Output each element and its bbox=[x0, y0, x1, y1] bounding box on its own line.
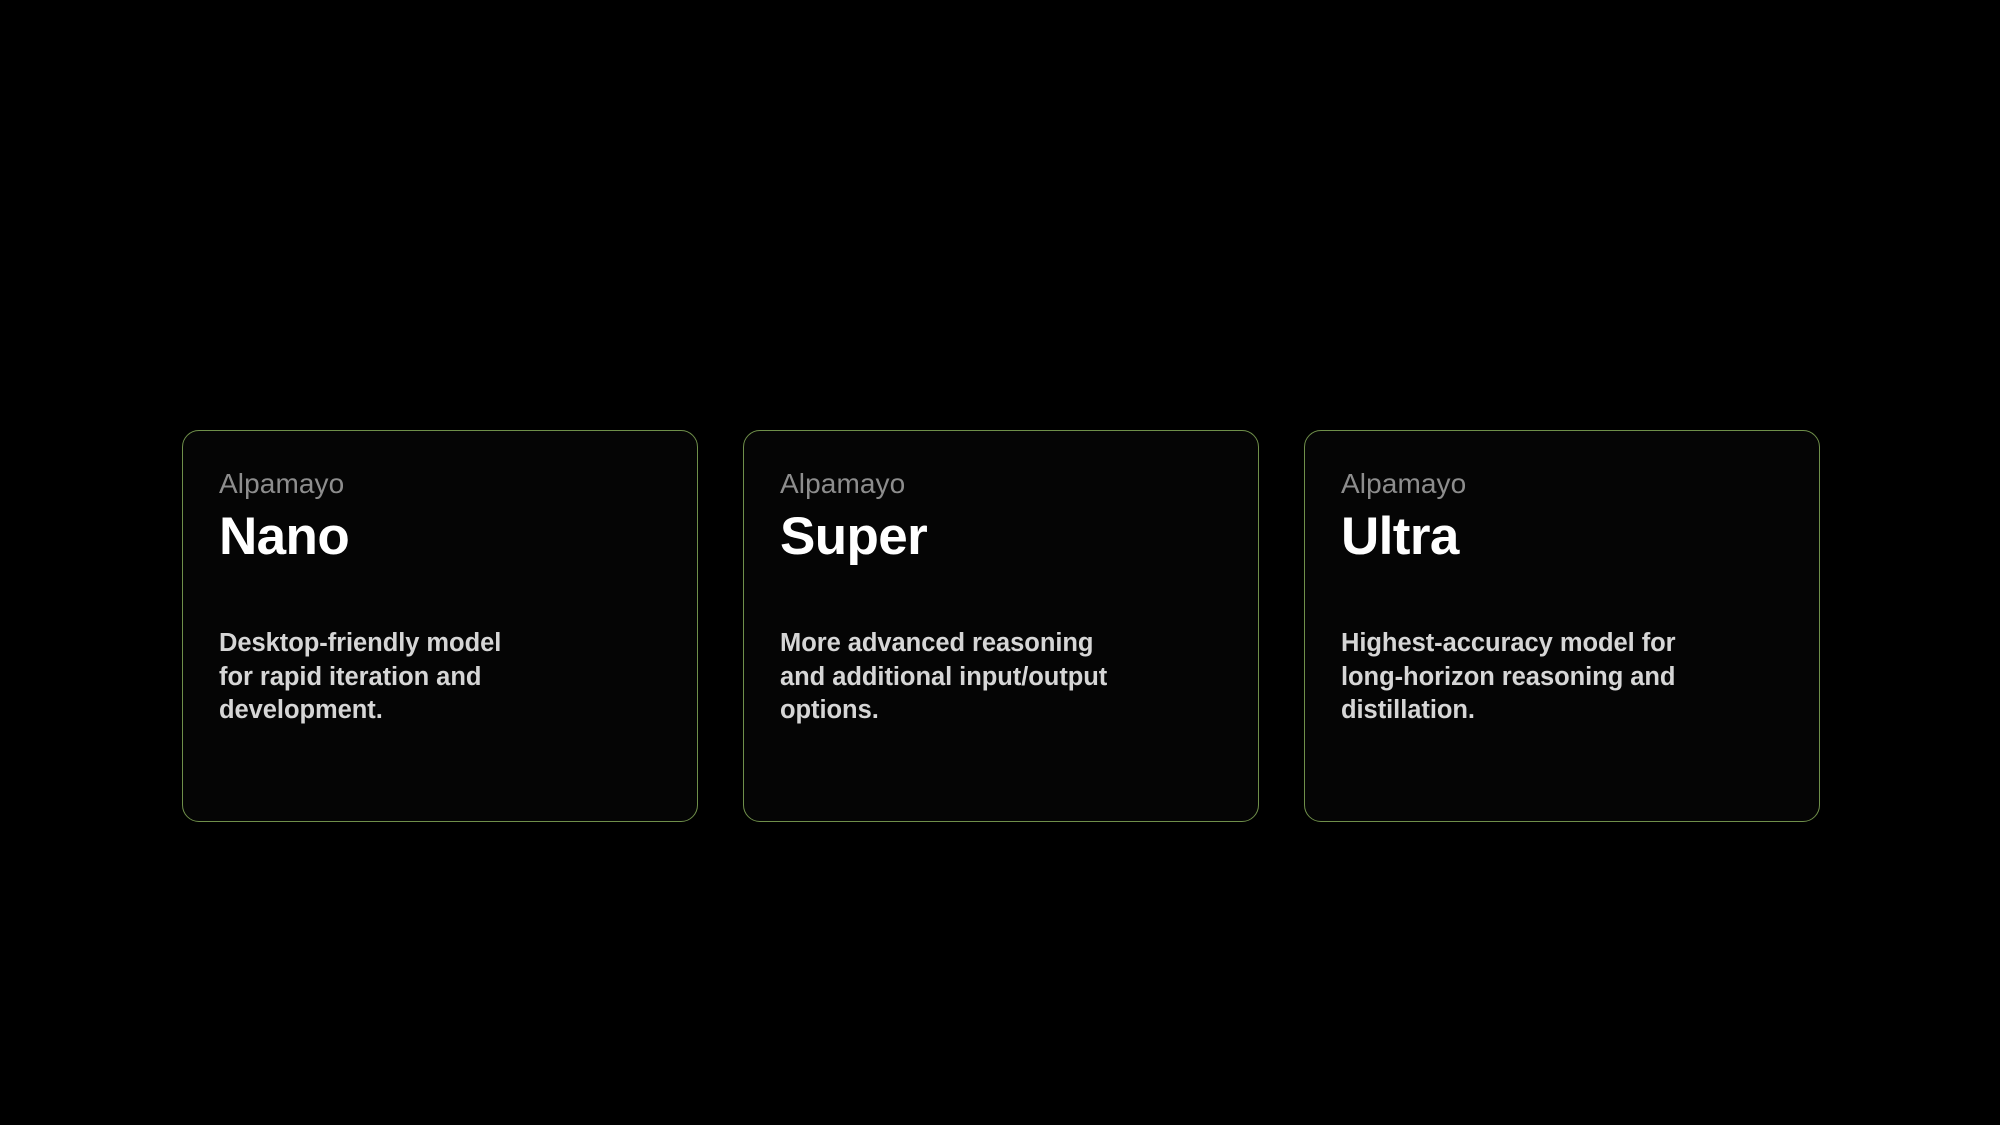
slide-canvas: Alpamayo Nano Desktop-friendly model for… bbox=[0, 0, 2000, 1125]
card-title-label: Nano bbox=[219, 508, 349, 565]
card-eyebrow-label: Alpamayo bbox=[780, 469, 905, 500]
card-description-text: Desktop-friendly model for rapid iterati… bbox=[219, 627, 501, 728]
model-card-super[interactable]: Alpamayo Super More advanced reasoning a… bbox=[743, 430, 1259, 822]
card-description-text: Highest-accuracy model for long-horizon … bbox=[1341, 627, 1676, 728]
model-card-ultra[interactable]: Alpamayo Ultra Highest-accuracy model fo… bbox=[1304, 430, 1820, 822]
card-description-text: More advanced reasoning and additional i… bbox=[780, 627, 1107, 728]
model-card-nano[interactable]: Alpamayo Nano Desktop-friendly model for… bbox=[182, 430, 698, 822]
model-tier-card-row: Alpamayo Nano Desktop-friendly model for… bbox=[182, 430, 1820, 822]
card-eyebrow-label: Alpamayo bbox=[219, 469, 344, 500]
card-title-label: Super bbox=[780, 508, 927, 565]
card-title-label: Ultra bbox=[1341, 508, 1459, 565]
card-eyebrow-label: Alpamayo bbox=[1341, 469, 1466, 500]
